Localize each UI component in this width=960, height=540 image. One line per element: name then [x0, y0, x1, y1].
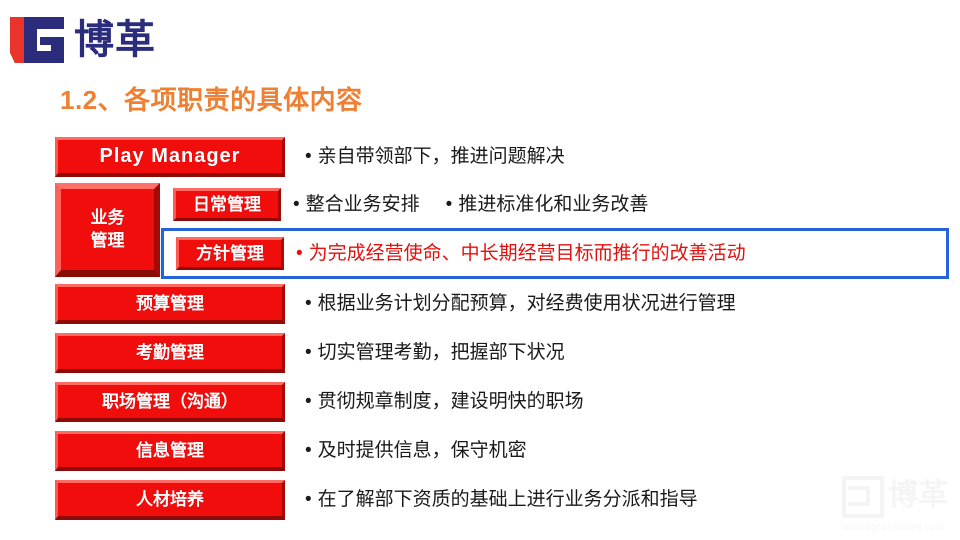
- description-secondary: • 推进标准化和业务改善: [446, 195, 649, 214]
- description-text-2: 推进标准化和业务改善: [458, 195, 648, 214]
- responsibility-description: • 整合业务安排 • 推进标准化和业务改善: [293, 195, 648, 214]
- responsibility-list: Play Manager • 亲自带领部下，推进问题解决 业务 管理 日常管理 …: [55, 132, 955, 524]
- bullet-icon: •: [305, 392, 312, 411]
- bullet-icon: •: [305, 441, 312, 460]
- description-text: 根据业务计划分配预算，对经费使用状况进行管理: [318, 294, 736, 313]
- business-management-group: 业务 管理 日常管理 • 整合业务安排 • 推进标准化和业务改善: [55, 181, 955, 279]
- description-text: 为完成经营使命、中长期经营目标而推行的改善活动: [309, 244, 746, 263]
- table-row-highlighted[interactable]: 方针管理 • 为完成经营使命、中长期经营目标而推行的改善活动: [161, 228, 949, 279]
- button-label: 考勤管理: [136, 344, 204, 361]
- bullet-icon: •: [293, 195, 300, 214]
- table-row: Play Manager • 亲自带领部下，推进问题解决: [55, 132, 955, 181]
- button-label: 人材培养: [136, 491, 204, 508]
- bullet-icon: •: [305, 294, 312, 313]
- description-text: 整合业务安排: [306, 195, 420, 214]
- button-label: 信息管理: [136, 442, 204, 459]
- responsibility-button-policy-management[interactable]: 方针管理: [176, 237, 284, 270]
- bullet-icon-2: •: [446, 195, 453, 214]
- table-row: 预算管理 • 根据业务计划分配预算，对经费使用状况进行管理: [55, 279, 955, 328]
- button-label-line2: 管理: [91, 230, 125, 253]
- responsibility-button-information-management[interactable]: 信息管理: [55, 431, 285, 471]
- responsibility-button-daily-management[interactable]: 日常管理: [173, 188, 281, 221]
- bullet-icon: •: [305, 343, 312, 362]
- bullet-icon: •: [305, 147, 312, 166]
- boge-logo-icon: [10, 17, 64, 63]
- table-row: 人材培养 • 在了解部下资质的基础上进行业务分派和指导: [55, 475, 955, 524]
- responsibility-button-business-management[interactable]: 业务 管理: [55, 183, 160, 277]
- responsibility-description: • 在了解部下资质的基础上进行业务分派和指导: [305, 490, 698, 509]
- responsibility-description: • 根据业务计划分配预算，对经费使用状况进行管理: [305, 294, 736, 313]
- brand-logo: 博革: [10, 12, 156, 68]
- watermark: 博革 www.bgconsulting.com: [840, 474, 952, 536]
- responsibility-button-workplace-management[interactable]: 职场管理（沟通）: [55, 382, 285, 422]
- button-label: 预算管理: [136, 295, 204, 312]
- button-label: 职场管理（沟通）: [102, 393, 238, 410]
- responsibility-description: • 及时提供信息，保守机密: [305, 441, 527, 460]
- responsibility-description: • 为完成经营使命、中长期经营目标而推行的改善活动: [296, 244, 746, 263]
- description-text: 及时提供信息，保守机密: [318, 441, 527, 460]
- responsibility-button-play-manager[interactable]: Play Manager: [55, 137, 285, 177]
- table-row: 职场管理（沟通） • 贯彻规章制度，建设明快的职场: [55, 377, 955, 426]
- responsibility-description: • 切实管理考勤，把握部下状况: [305, 343, 565, 362]
- description-text: 切实管理考勤，把握部下状况: [318, 343, 565, 362]
- responsibility-description: • 亲自带领部下，推进问题解决: [305, 147, 565, 166]
- table-row: 日常管理 • 整合业务安排 • 推进标准化和业务改善: [167, 181, 955, 228]
- brand-name: 博革: [74, 20, 156, 60]
- button-label: 方针管理: [196, 245, 264, 262]
- bullet-icon: •: [296, 244, 303, 263]
- table-row: 考勤管理 • 切实管理考勤，把握部下状况: [55, 328, 955, 377]
- description-text: 亲自带领部下，推进问题解决: [318, 147, 565, 166]
- bullet-icon: •: [305, 490, 312, 509]
- responsibility-button-budget-management[interactable]: 预算管理: [55, 284, 285, 324]
- description-text: 在了解部下资质的基础上进行业务分派和指导: [318, 490, 698, 509]
- responsibility-button-talent-development[interactable]: 人材培养: [55, 480, 285, 520]
- page-title: 1.2、各项职责的具体内容: [60, 80, 363, 117]
- watermark-brand-text: 博革: [888, 476, 948, 517]
- watermark-url: www.bgconsulting.com: [842, 522, 944, 532]
- responsibility-description: • 贯彻规章制度，建设明快的职场: [305, 392, 584, 411]
- responsibility-button-attendance-management[interactable]: 考勤管理: [55, 333, 285, 373]
- watermark-logo-inner-icon: [848, 486, 870, 506]
- description-text: 贯彻规章制度，建设明快的职场: [318, 392, 584, 411]
- button-label: 日常管理: [193, 196, 261, 213]
- button-label: Play Manager: [100, 146, 241, 166]
- button-label-line1: 业务: [91, 207, 125, 230]
- table-row: 信息管理 • 及时提供信息，保守机密: [55, 426, 955, 475]
